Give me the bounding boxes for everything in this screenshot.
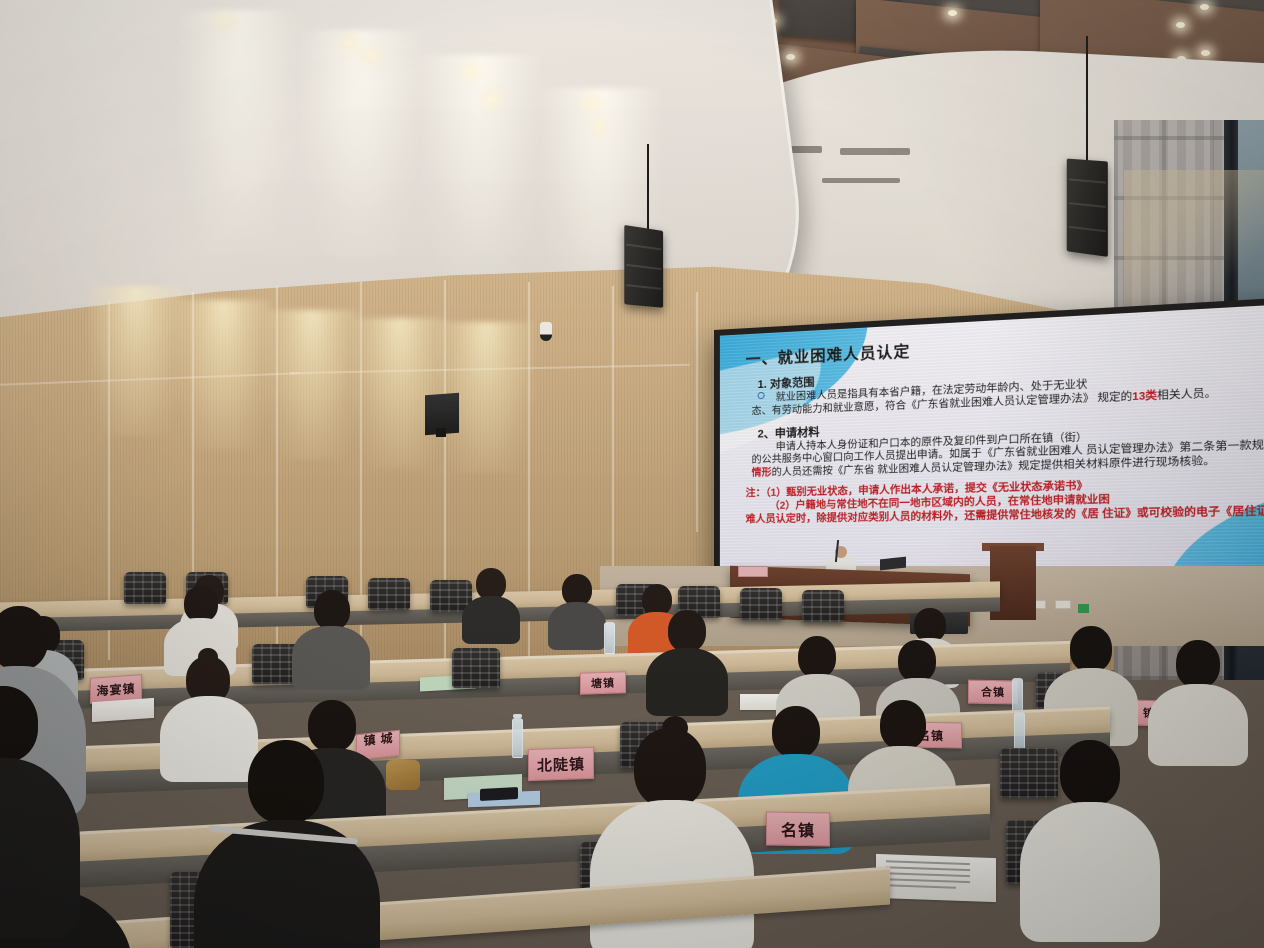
lecture-hall-photo: 一、就业困难人员认定 1. 对象范围 就业困难人员是指具有本省户籍，在法定劳动年… [0,0,1264,948]
wall-outlet[interactable] [1055,600,1071,609]
soffit-downlight [366,52,375,58]
paper-stack[interactable] [92,698,154,722]
water-bottle[interactable] [1012,678,1023,714]
attendee-head [1070,626,1112,672]
slide-note-2c: 住证》或可校验的电子《居住证》。 [1102,505,1264,520]
handbag[interactable] [386,760,420,790]
ceiling-downlight [786,54,795,60]
slide-note-label: 注： [746,488,766,500]
attendee-head [772,706,820,758]
stage-nameplate [738,566,768,577]
chair[interactable] [124,572,166,604]
placard-partial-mid: 塘镇 [580,671,626,695]
slide-s1-line-c-post: 相关人员。 [1157,388,1217,402]
attendee-head [914,608,946,642]
attendee-torso [160,696,258,782]
attendee-head [880,700,926,750]
water-bottle[interactable] [512,718,523,758]
wood-panel-seam [696,292,698,532]
attendee-head [184,586,218,622]
slide-s1-line-c-pre: 规定的 [1097,391,1132,404]
line-array-speaker [624,225,663,308]
chair[interactable] [368,578,410,610]
soffit-light-scallop [420,55,540,285]
attendee-head [898,640,936,682]
wall-speaker-bracket [436,428,446,437]
slide-content: 一、就业困难人员认定 1. 对象范围 就业困难人员是指具有本省户籍，在法定劳动年… [746,318,1264,579]
attendee-torso [462,596,520,644]
document-page[interactable] [876,854,996,902]
placard-beidou: 北陡镇 [528,747,594,781]
ceiling-downlight [1201,50,1210,56]
attendee-head [248,740,324,824]
ceiling-downlight [1200,4,1209,10]
attendee-torso [1148,684,1248,766]
attendee-head [314,590,350,630]
wall-light-scallop [352,318,448,468]
mobile-phone[interactable] [480,787,518,801]
wall-light-scallop [88,286,184,436]
slide-s2-line-c-post: 的人员还需按《广东省 [772,465,875,479]
placard-partial-ming: 名镇 [766,811,830,846]
attendee-torso [548,602,606,650]
bottle-cap [513,714,522,718]
soffit-downlight [588,100,597,106]
ceiling-downlight [1176,22,1185,28]
ceiling-light-slot [822,178,900,183]
attendee-torso [590,800,754,948]
attendee-head [798,636,836,678]
soffit-downlight [466,68,475,74]
soffit-downlight [487,96,496,102]
slide-s1-highlight: 13类 [1132,390,1157,403]
ceiling-air-grille [840,148,910,155]
line-array-speaker [1067,159,1108,257]
exit-sign-icon [1078,604,1089,613]
soffit-light-scallop [300,30,420,260]
attendee-head [1060,740,1120,806]
attendee-head [308,700,356,752]
attendee-head [634,728,706,808]
wall-light-scallop [264,310,360,460]
water-bottle[interactable] [604,622,615,654]
slide-note-block: 注：（1）甄别无业状态，申请人作出本人承诺，提交《无业状态承诺书》 （2）户籍地… [746,474,1264,526]
chair[interactable] [452,648,500,688]
attendee-torso [646,648,728,716]
attendee-head [1176,640,1220,688]
soffit-downlight [222,18,231,24]
speaker-suspension-cable [1086,36,1088,164]
water-bottle[interactable] [1014,712,1025,752]
speaker-suspension-cable [647,144,649,232]
soffit-downlight [594,124,603,130]
placard-partial-he: 合镇 [968,680,1018,705]
attendee-head [668,610,706,652]
attendee-torso [1020,802,1160,942]
chair[interactable] [740,588,782,620]
ceiling-downlight [948,10,957,16]
chair[interactable] [1000,748,1058,798]
soffit-light-scallop [178,10,298,240]
chair[interactable] [802,590,844,622]
wall-light-scallop [176,300,272,450]
attendee-torso [292,626,370,690]
attendee-head [0,606,48,670]
soffit-downlight [344,40,353,46]
